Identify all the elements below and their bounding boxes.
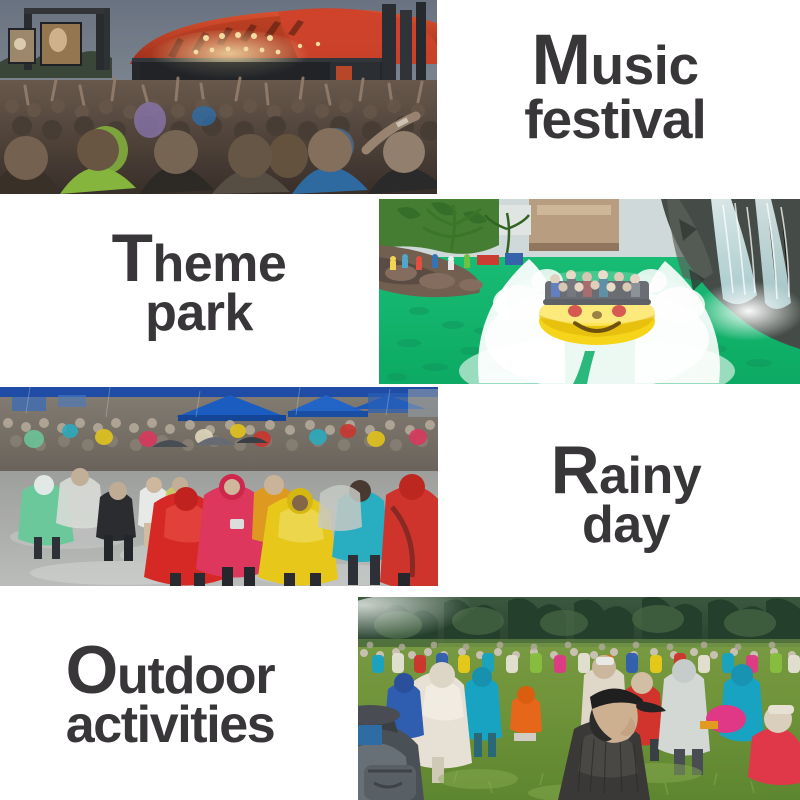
caption-line-1: Music: [440, 28, 790, 94]
music-festival-photo: [0, 0, 437, 194]
caption-line-2: park: [34, 290, 364, 338]
caption-music-festival: Music festival: [440, 28, 790, 144]
theme-park-photo: [379, 199, 800, 384]
caption-line-2: festival: [440, 94, 790, 145]
rainy-day-photo: [0, 387, 438, 586]
caption-line-1: Rainy: [466, 440, 786, 502]
caption-rainy-day: Rainy day: [466, 440, 786, 550]
caption-line-2: activities: [0, 702, 340, 750]
caption-theme-park: Theme park: [34, 228, 364, 338]
caption-line-2: day: [466, 502, 786, 550]
caption-line-1-rest: usic: [591, 34, 699, 96]
caption-line-1: Outdoor: [0, 640, 340, 702]
caption-outdoor-activities: Outdoor activities: [0, 640, 340, 750]
collage-canvas: Music festival Theme park Rainy day Outd…: [0, 0, 800, 800]
outdoor-activities-photo: [358, 597, 800, 800]
caption-line-1: Theme: [34, 228, 364, 290]
